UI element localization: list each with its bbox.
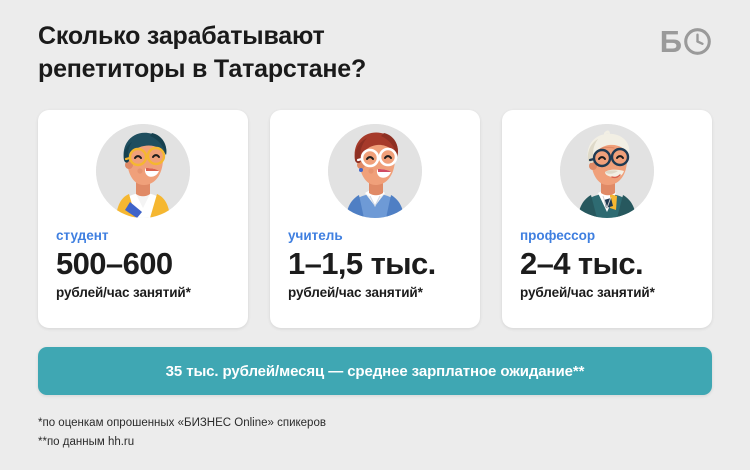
- page-title: Сколько зарабатывают репетиторы в Татарс…: [38, 20, 598, 86]
- card-role-label: учитель: [288, 228, 462, 243]
- card-amount: 500–600: [56, 247, 230, 281]
- student-avatar: [96, 124, 190, 218]
- brand-logo: Б: [660, 26, 712, 57]
- teacher-avatar: [328, 124, 422, 218]
- professor-avatar: [560, 124, 654, 218]
- card-teacher[interactable]: учитель 1–1,5 тыс. рублей/час занятий*: [270, 110, 480, 328]
- card-role-label: профессор: [520, 228, 694, 243]
- clock-o-icon: [683, 27, 712, 56]
- logo-letter-b: Б: [660, 26, 682, 57]
- avatar-wrap: [56, 124, 230, 218]
- avatar-wrap: [288, 124, 462, 218]
- header: Сколько зарабатывают репетиторы в Татарс…: [38, 20, 712, 90]
- cards-row: студент 500–600 рублей/час занятий*: [38, 110, 712, 328]
- card-professor[interactable]: профессор 2–4 тыс. рублей/час занятий*: [502, 110, 712, 328]
- infographic-root: Сколько зарабатывают репетиторы в Татарс…: [0, 0, 750, 470]
- card-unit: рублей/час занятий*: [520, 285, 694, 300]
- footnote-2: **по данным hh.ru: [38, 433, 712, 452]
- card-role-label: студент: [56, 228, 230, 243]
- card-unit: рублей/час занятий*: [288, 285, 462, 300]
- card-amount: 1–1,5 тыс.: [288, 247, 462, 281]
- card-unit: рублей/час занятий*: [56, 285, 230, 300]
- page-title-line-1: Сколько зарабатывают: [38, 20, 598, 53]
- summary-banner-text: 35 тыс. рублей/месяц — среднее зарплатно…: [166, 363, 585, 380]
- card-student[interactable]: студент 500–600 рублей/час занятий*: [38, 110, 248, 328]
- card-amount: 2–4 тыс.: [520, 247, 694, 281]
- page-title-line-2: репетиторы в Татарстане?: [38, 53, 598, 86]
- footnote-1: *по оценкам опрошенных «БИЗНЕС Online» с…: [38, 414, 712, 433]
- avatar-wrap: [520, 124, 694, 218]
- summary-banner: 35 тыс. рублей/месяц — среднее зарплатно…: [38, 347, 712, 395]
- footnotes: *по оценкам опрошенных «БИЗНЕС Online» с…: [38, 414, 712, 452]
